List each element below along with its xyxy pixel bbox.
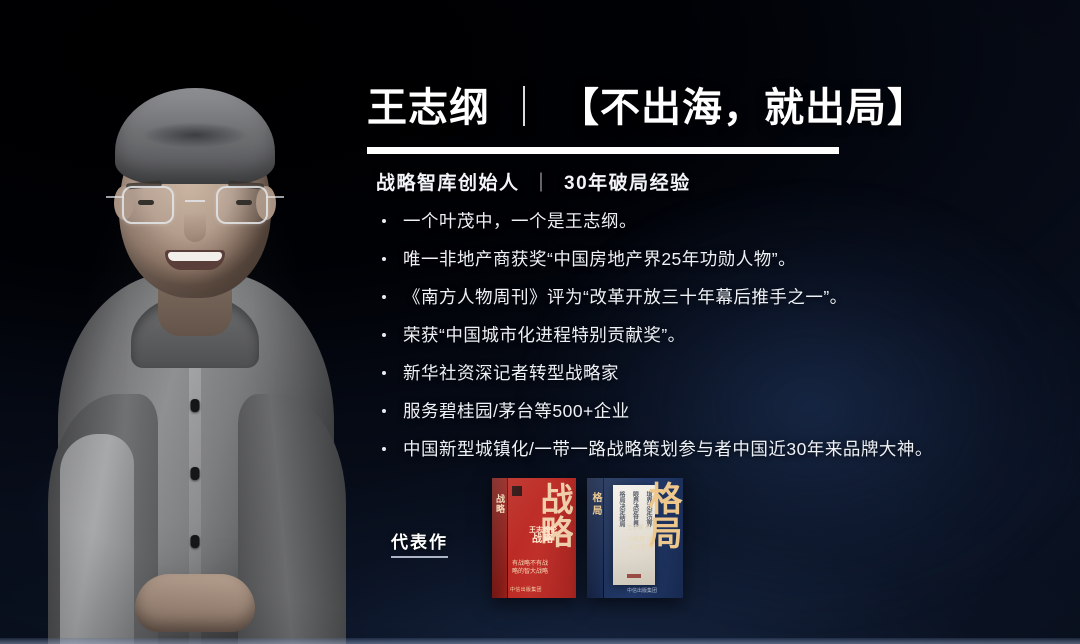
list-item: 新华社资深记者转型战略家 (367, 354, 1067, 392)
subtitle-right: 30年破局经验 (564, 173, 691, 194)
list-item: 荣获“中国城市化进程特别贡献奖”。 (367, 316, 1067, 354)
portrait-button (191, 399, 200, 412)
portrait-glasses-temple-left (106, 196, 124, 198)
list-item: 《南方人物周刊》评为“改革开放三十年幕后推手之一”。 (367, 278, 1067, 316)
book-glare (492, 478, 576, 598)
list-item: 中国新型城镇化/一带一路战略策划参与者中国近30年来品牌大神。 (367, 430, 1067, 468)
portrait-teeth (168, 252, 222, 261)
portrait-glasses-temple-right (266, 196, 284, 198)
title-underline-rule (367, 147, 839, 154)
headline-tagline: 【不出海，就出局】 (559, 86, 928, 130)
subtitle-separator: ｜ (520, 173, 565, 194)
slide-canvas: 王志纲｜【不出海，就出局】 战略智库创始人｜30年破局经验 一个叶茂中，一个是王… (0, 0, 1080, 644)
portrait-mouth (165, 250, 225, 270)
portrait-hands (135, 574, 255, 632)
subtitle: 战略智库创始人｜30年破局经验 (376, 168, 691, 195)
portrait-button (191, 535, 200, 548)
headline-name: 王志纲 (367, 86, 490, 130)
portrait-glasses-lens-left (122, 186, 174, 224)
subtitle-left: 战略智库创始人 (376, 173, 520, 194)
text-content: 王志纲｜【不出海，就出局】 战略智库创始人｜30年破局经验 一个叶茂中，一个是王… (367, 0, 1067, 644)
works-label: 代表作 (391, 528, 448, 558)
list-item: 一个叶茂中，一个是王志纲。 (367, 202, 1067, 240)
portrait-glasses-lens-right (216, 186, 268, 224)
bottom-edge-highlight (0, 638, 1080, 644)
portrait-glasses-bridge (185, 200, 205, 202)
portrait-sleeve-left (60, 434, 134, 644)
list-item: 服务碧桂园/茅台等500+企业 (367, 392, 1067, 430)
speaker-portrait (30, 36, 360, 644)
headline-separator: ｜ (490, 86, 559, 130)
credentials-list: 一个叶茂中，一个是王志纲。 唯一非地产商获奖“中国房地产界25年功勋人物”。 《… (367, 202, 1067, 468)
book-cover-pattern: 格局 格局决定结局 眼界决定世界 境界决定边界 格局 王志纲 著 小道理 服从大… (587, 478, 683, 598)
list-item: 唯一非地产商获奖“中国房地产界25年功勋人物”。 (367, 240, 1067, 278)
book-glare (587, 478, 683, 598)
portrait-button (191, 467, 200, 480)
book-covers: 战略 战略 王志纲论 战略 有战略不有战略的智大战略 中信出版集团 格局 (492, 478, 812, 608)
portrait-nose (184, 212, 206, 242)
book-cover-strategy: 战略 战略 王志纲论 战略 有战略不有战略的智大战略 中信出版集团 (492, 478, 576, 598)
page-title: 王志纲｜【不出海，就出局】 (367, 88, 928, 128)
